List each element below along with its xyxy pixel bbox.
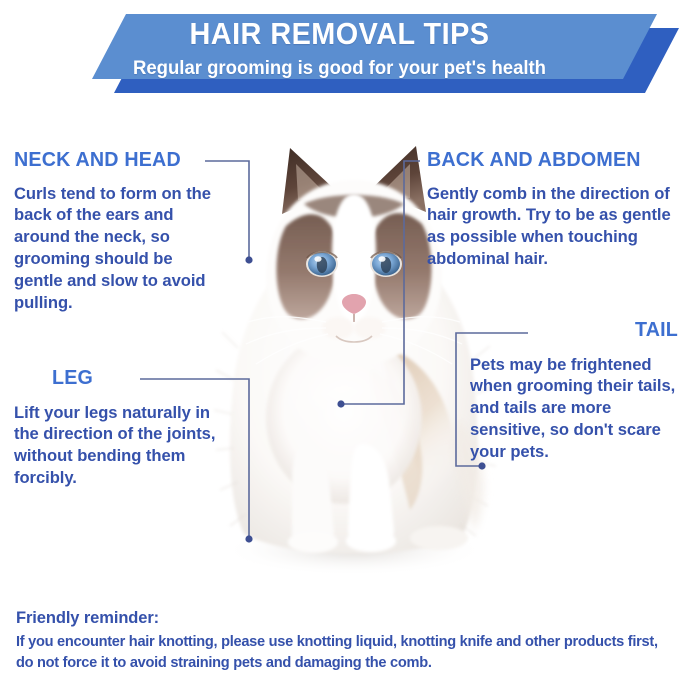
callout-tail-body: Pets may be frightened when grooming the… — [470, 354, 678, 463]
callout-leg-body: Lift your legs naturally in the directio… — [14, 402, 224, 490]
callout-neck-and-head: NECK AND HEAD Curls tend to form on the … — [14, 150, 219, 314]
cat-muzzle-right — [354, 317, 386, 339]
callout-neck-and-head-body: Curls tend to form on the back of the ea… — [14, 183, 219, 314]
callout-tail-heading: TAIL — [478, 320, 678, 341]
footer-title: Friendly reminder: — [16, 609, 666, 627]
callout-back-and-abdomen: BACK AND ABDOMEN Gently comb in the dire… — [427, 150, 677, 270]
callout-leg-heading: LEG — [16, 368, 128, 389]
cat-eye-right — [370, 251, 402, 277]
header-banner: HAIR REMOVAL TIPS Regular grooming is go… — [0, 0, 679, 104]
footer-reminder: Friendly reminder: If you encounter hair… — [16, 609, 666, 674]
cat-eye-left — [306, 251, 338, 277]
footer-body: If you encounter hair knotting, please u… — [16, 632, 666, 673]
banner-title: HAIR REMOVAL TIPS — [24, 18, 655, 49]
callout-leg: LEG Lift your legs naturally in the dire… — [14, 368, 224, 489]
banner-subtitle: Regular grooming is good for your pet's … — [17, 59, 662, 79]
callout-back-and-abdomen-heading: BACK AND ABDOMEN — [427, 150, 667, 171]
cat-muzzle-left — [322, 317, 354, 339]
callout-neck-and-head-heading: NECK AND HEAD — [14, 150, 211, 171]
callout-back-and-abdomen-body: Gently comb in the direction of hair gro… — [427, 183, 677, 271]
callout-tail: TAIL Pets may be frightened when groomin… — [470, 320, 678, 463]
